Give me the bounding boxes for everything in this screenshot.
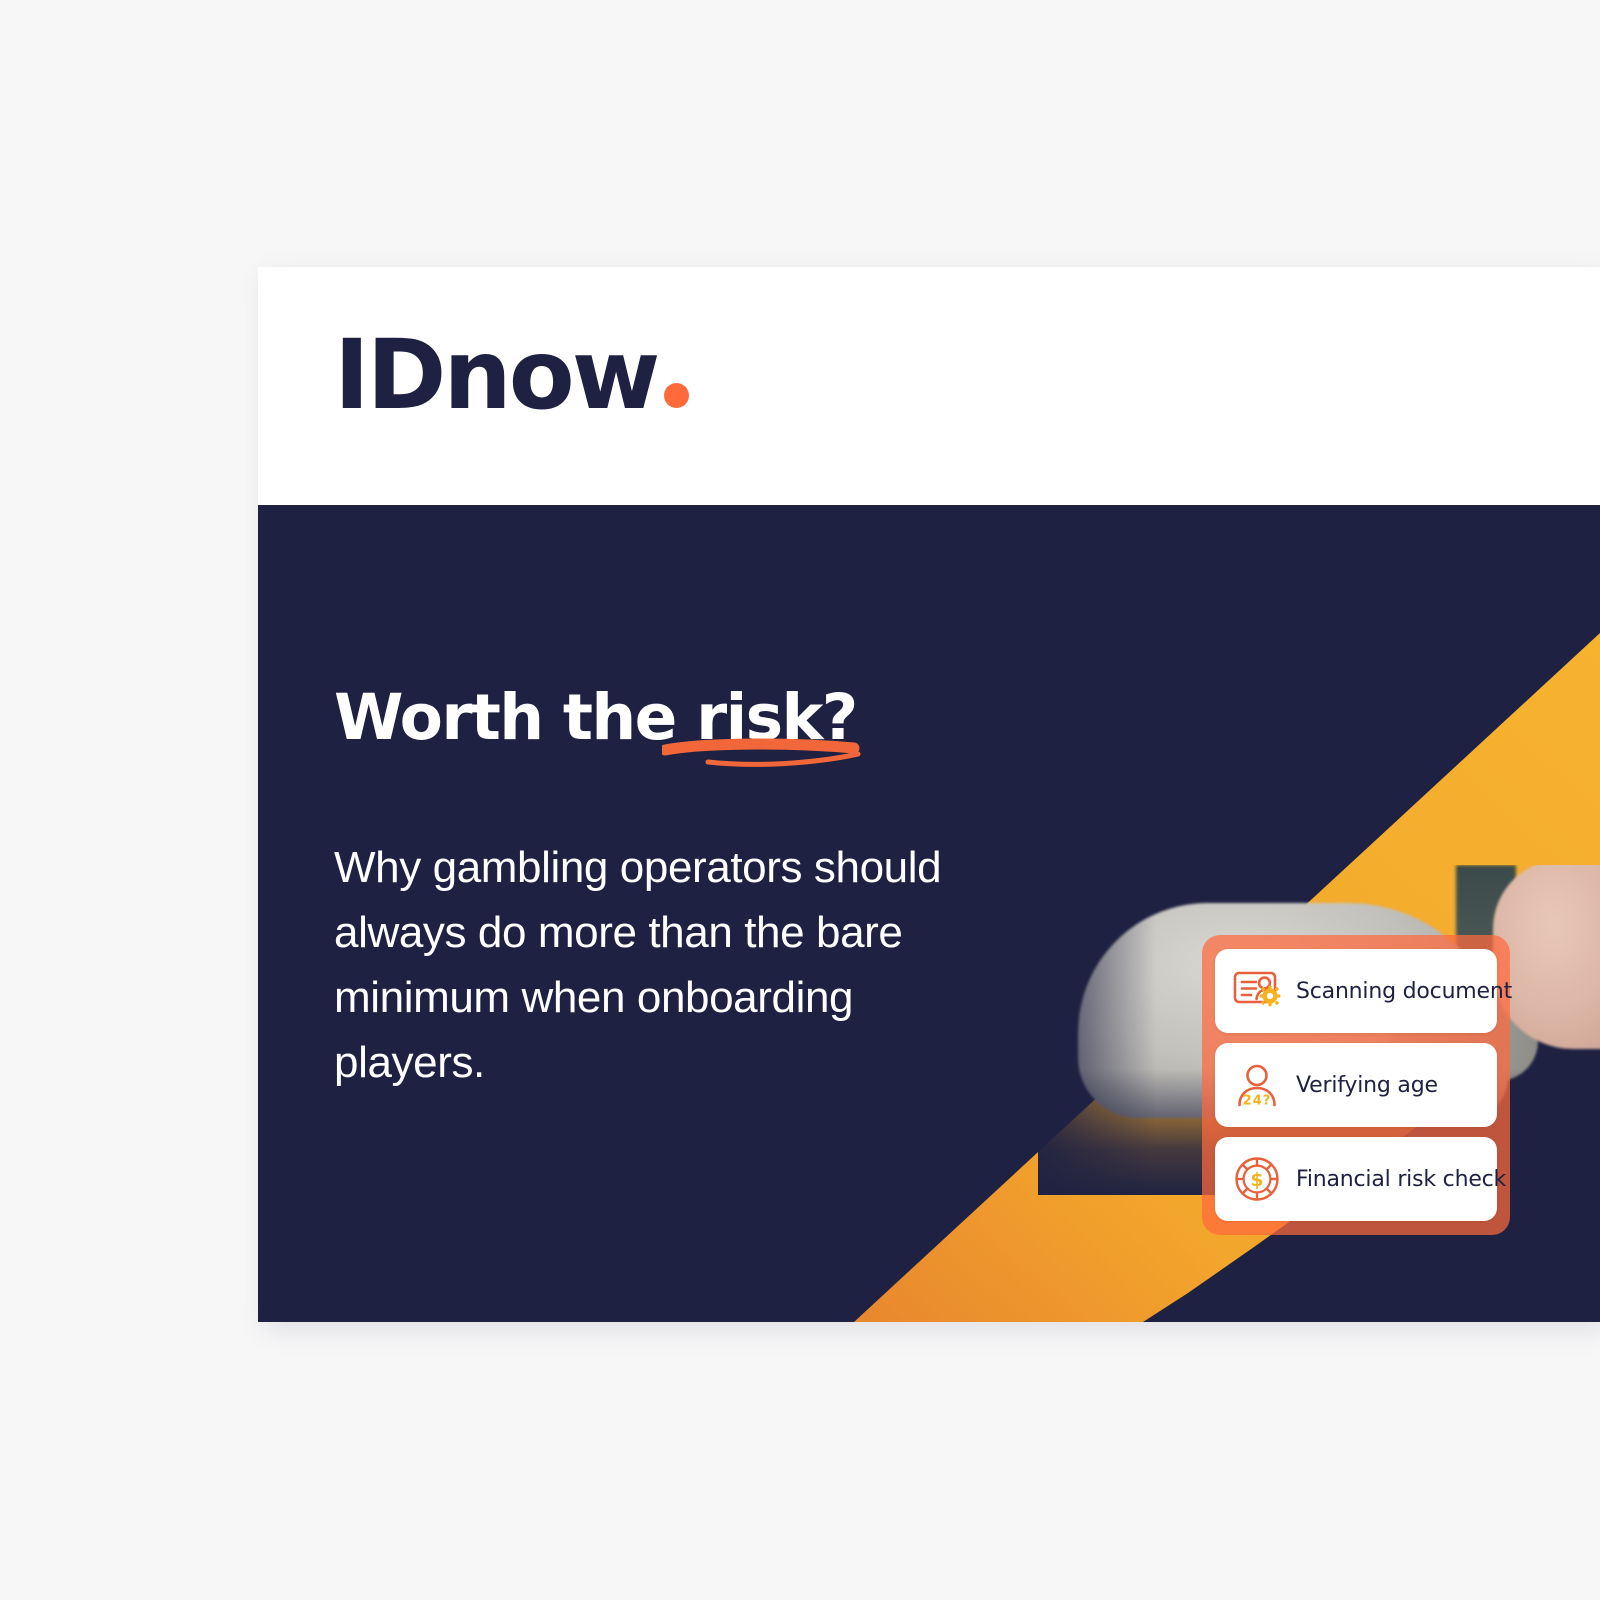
casino-chip-dollar-icon: $ (1230, 1152, 1284, 1206)
verification-steps-panel: Scanning document 24? Verifying age (1202, 935, 1510, 1235)
id-card-scan-icon (1230, 964, 1284, 1018)
headline-block: Worth the risk? (334, 685, 857, 751)
feature-card-scanning-document[interactable]: Scanning document (1215, 949, 1497, 1033)
slide-header: IDnow (258, 267, 1600, 505)
feature-card-label: Verifying age (1296, 1073, 1438, 1098)
slide-text-column: Worth the risk? Why gambling operators s… (334, 685, 994, 1096)
presentation-slide: IDnow (258, 267, 1600, 1322)
idnow-logo: IDnow (334, 327, 689, 423)
feature-card-label: Financial risk check (1296, 1167, 1506, 1192)
slide-body: Worth the risk? Why gambling operators s… (258, 505, 1600, 1322)
person-age-verify-icon: 24? (1230, 1058, 1284, 1112)
page-title: Worth the risk? (334, 685, 857, 751)
svg-text:24?: 24? (1243, 1094, 1272, 1109)
feature-card-label: Scanning document (1296, 979, 1512, 1004)
feature-card-verifying-age[interactable]: 24? Verifying age (1215, 1043, 1497, 1127)
feature-card-financial-risk-check[interactable]: $ Financial risk check (1215, 1137, 1497, 1221)
svg-text:$: $ (1250, 1169, 1263, 1191)
slide-subhead: Why gambling operators should always do … (334, 835, 954, 1095)
brand-dot-icon (664, 383, 689, 408)
brand-wordmark: IDnow (334, 327, 657, 423)
